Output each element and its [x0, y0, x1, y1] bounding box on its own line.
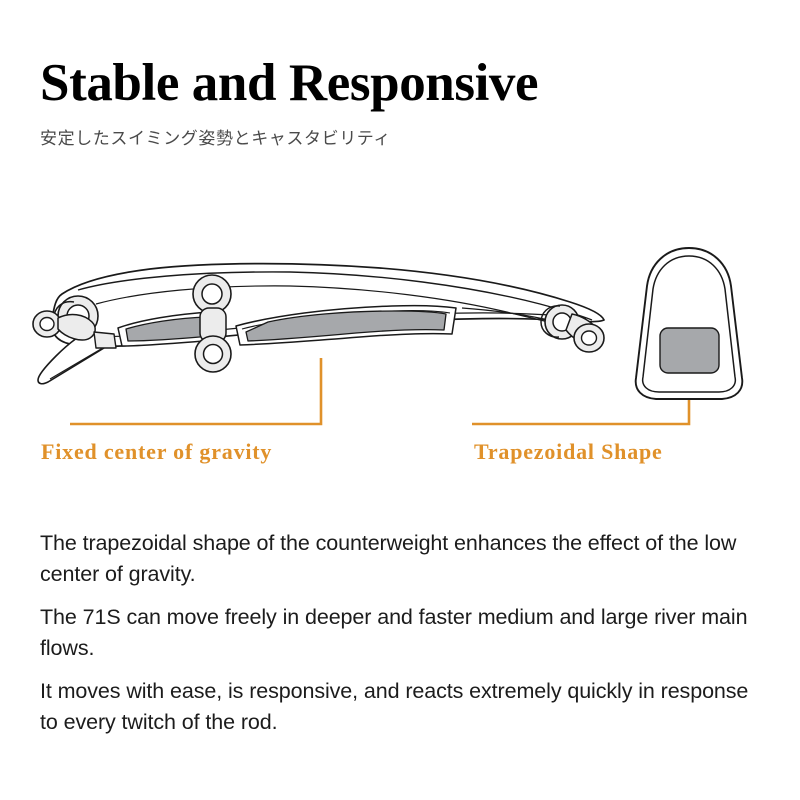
body-paragraph-3: It moves with ease, is responsive, and r…: [40, 676, 755, 738]
tail-snap-ring-hole: [582, 331, 597, 345]
hanger-lower-eyelet-hole: [204, 345, 223, 364]
header: Stable and Responsive 安定したスイミング姿勢とキャスタビリ…: [40, 56, 760, 150]
cross-section-counterweight: [660, 328, 719, 373]
lure-diagram-svg: [0, 230, 800, 450]
front-snap-ring-hole: [40, 318, 54, 331]
lure-side-view: [33, 264, 604, 384]
front-hardware-plate: [94, 332, 116, 348]
callout-leader-lines: [70, 358, 689, 424]
callout-label-fixed-center-of-gravity: Fixed center of gravity: [41, 438, 272, 466]
body-copy: The trapezoidal shape of the counterweig…: [40, 528, 755, 738]
product-feature-page: Stable and Responsive 安定したスイミング姿勢とキャスタビリ…: [0, 0, 800, 800]
lure-diagram: [0, 230, 800, 450]
body-paragraph-1: The trapezoidal shape of the counterweig…: [40, 528, 755, 590]
leader-line-fixed-center-of-gravity: [70, 358, 321, 424]
hanger-upper-eyelet-hole: [202, 284, 222, 304]
page-subtitle-japanese: 安定したスイミング姿勢とキャスタビリティ: [40, 110, 760, 150]
body-paragraph-2: The 71S can move freely in deeper and fa…: [40, 602, 755, 664]
lure-cross-section: [636, 248, 743, 399]
page-title: Stable and Responsive: [40, 56, 760, 110]
callout-label-trapezoidal-shape: Trapezoidal Shape: [474, 438, 663, 466]
leader-line-trapezoidal-shape: [472, 400, 689, 424]
callout-labels: Fixed center of gravity Trapezoidal Shap…: [0, 438, 800, 474]
cross-section-outer-outline: [636, 248, 743, 399]
